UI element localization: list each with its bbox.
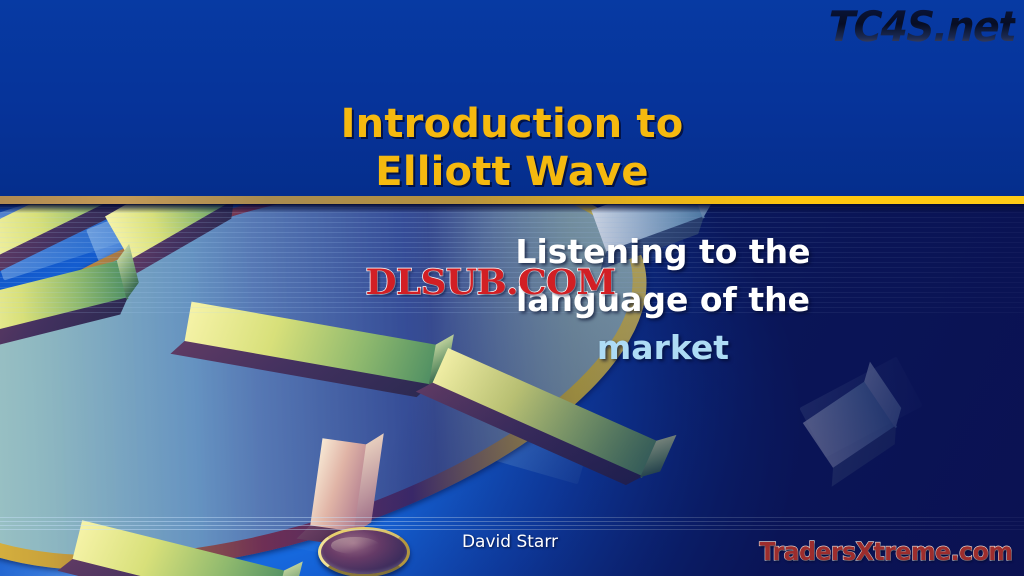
light-ray-glow xyxy=(0,197,491,576)
ring-block xyxy=(72,520,286,576)
presentation-slide: Introduction to Elliott Wave Listening t… xyxy=(0,0,1024,576)
ring-block xyxy=(803,381,897,470)
ring-block xyxy=(0,260,128,338)
ring-block xyxy=(184,302,437,387)
slide-author: David Starr xyxy=(380,532,640,552)
tc4s-logo[interactable]: TC4S.net xyxy=(827,2,1016,51)
glass-plate xyxy=(257,340,418,436)
light-ray-glow-secondary xyxy=(0,197,464,576)
divider-shadow xyxy=(0,204,1024,213)
glass-plate xyxy=(109,303,285,384)
glass-plate xyxy=(186,218,344,303)
tradersxtreme-logo[interactable]: TradersXtreme.com xyxy=(759,537,1012,566)
scanline-overlay-lower xyxy=(0,517,1024,533)
gold-divider-line xyxy=(0,196,1024,204)
subtitle-line-3: market xyxy=(597,328,729,367)
slide-title: Introduction to Elliott Wave xyxy=(0,100,1024,196)
glass-plate xyxy=(434,378,597,485)
dlsub-watermark: DLSUB.COM xyxy=(366,262,616,303)
glass-plate xyxy=(135,451,334,553)
ring-block xyxy=(310,438,368,534)
